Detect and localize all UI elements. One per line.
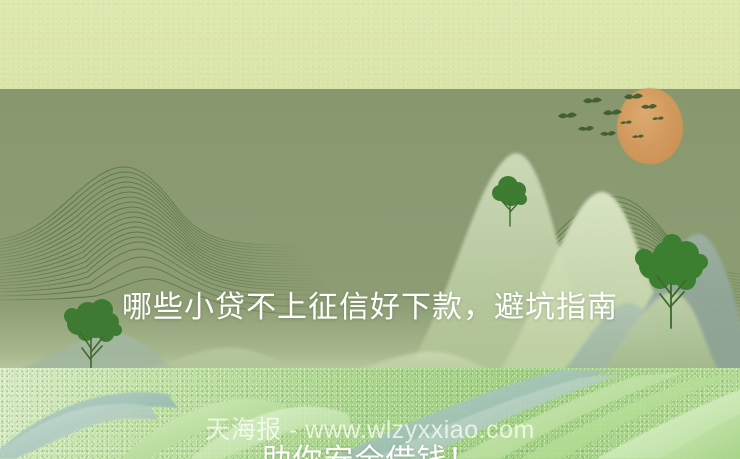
headline-line-2: 助你安全借钱！: [0, 435, 740, 459]
poster-canvas: 哪些小贷不上征信好下款，避坑指南 助你安全借钱！ 天海报 - www.wlzyx…: [0, 0, 740, 459]
headline-line-1: 哪些小贷不上征信好下款，避坑指南: [0, 282, 740, 333]
headline: 哪些小贷不上征信好下款，避坑指南 助你安全借钱！: [0, 180, 740, 459]
sky-band: [0, 0, 740, 89]
